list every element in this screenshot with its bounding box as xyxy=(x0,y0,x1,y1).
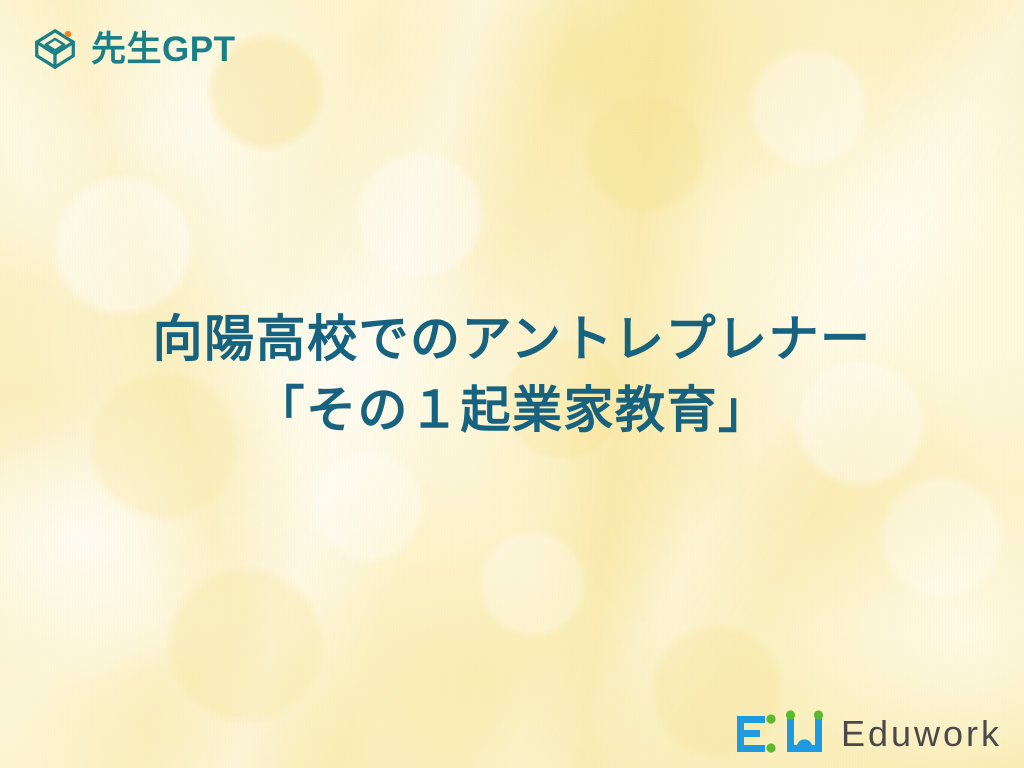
dot-icon xyxy=(814,710,823,719)
eduwork-wordmark: Eduwork xyxy=(841,716,1002,752)
eduwork-logo: Eduwork xyxy=(735,708,1002,760)
accent-dot-icon xyxy=(65,31,72,38)
eduwork-ew-monogram-icon xyxy=(735,708,827,760)
brand-logo: 先生GPT xyxy=(30,24,235,74)
slide-title: 向陽高校でのアントレプレナー 「その１起業家教育」 xyxy=(0,304,1024,446)
slide-title-line-1: 向陽高校でのアントレプレナー xyxy=(40,304,984,375)
presentation-slide: 先生GPT 向陽高校でのアントレプレナー 「その１起業家教育」 Eduwork xyxy=(0,0,1024,768)
dot-icon xyxy=(766,714,775,723)
slide-title-line-2: 「その１起業家教育」 xyxy=(40,375,984,446)
brand-wordmark: 先生GPT xyxy=(91,32,235,67)
dot-icon xyxy=(766,743,775,752)
graduation-cap-hexagon-icon xyxy=(30,24,80,74)
dot-icon xyxy=(786,710,795,719)
